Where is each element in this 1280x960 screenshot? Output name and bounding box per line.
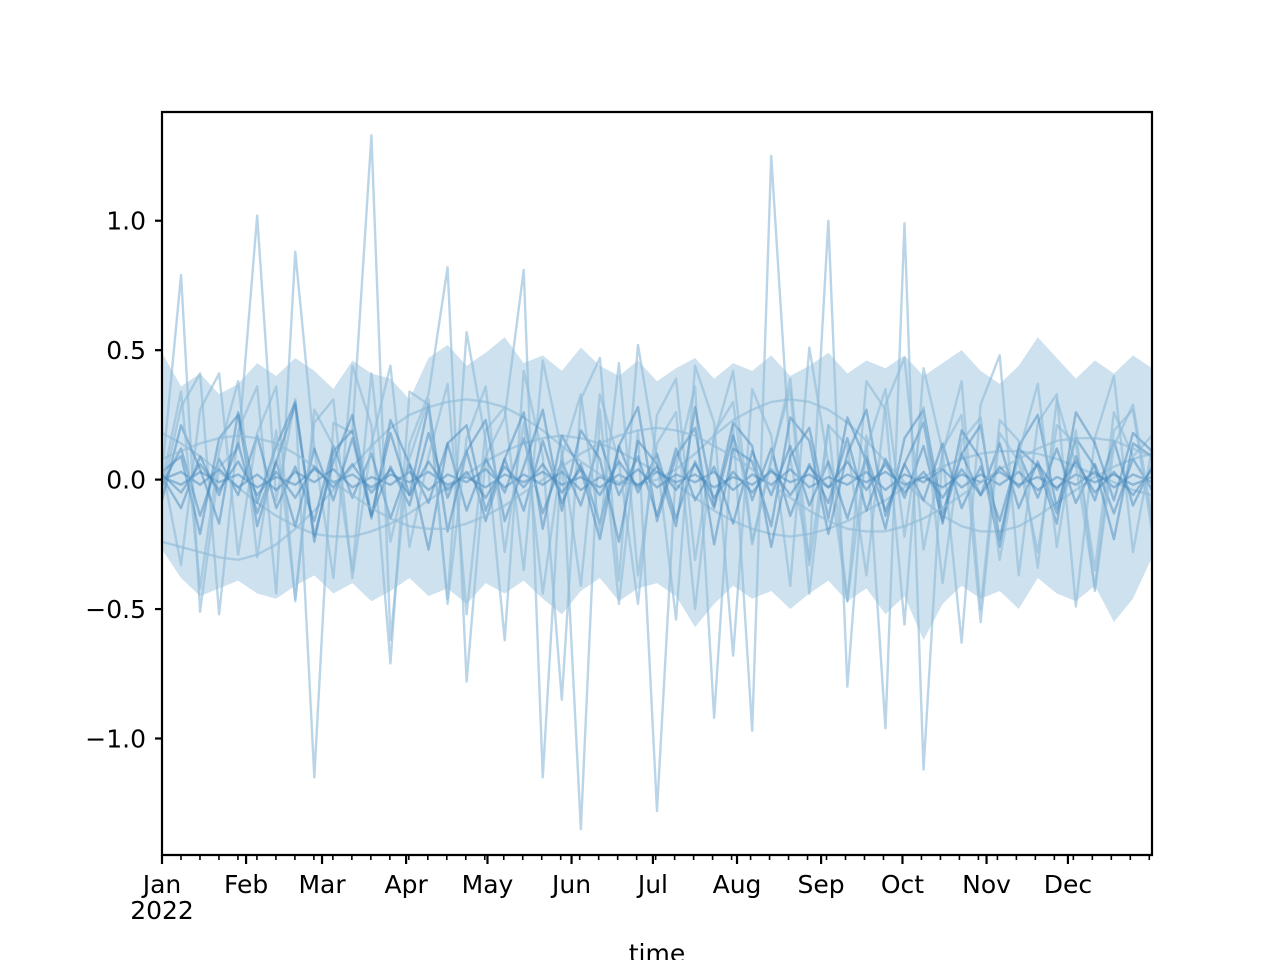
x-tick-label: Jan <box>141 870 182 899</box>
x-tick-label: Nov <box>962 870 1011 899</box>
plot-canvas: JanFebMarAprMayJunJulAugSepOctNovDec −1.… <box>0 0 1280 960</box>
x-tick-label: Feb <box>224 870 268 899</box>
x-tick-label: Sep <box>798 870 845 899</box>
y-tick-label: 0.0 <box>106 466 146 495</box>
matplotlib-figure: JanFebMarAprMayJunJulAugSepOctNovDec −1.… <box>0 0 1280 960</box>
x-tick-label: Apr <box>384 870 428 899</box>
x-tick-label: Aug <box>713 870 762 899</box>
y-tick-label: 0.5 <box>106 336 146 365</box>
x-tick-label: May <box>462 870 514 899</box>
y-tick-label: −0.5 <box>85 595 146 624</box>
x-tick-label: Dec <box>1044 870 1092 899</box>
x-tick-label: Jul <box>636 870 668 899</box>
x-tick-label: Oct <box>881 870 924 899</box>
x-axis-label: time <box>629 939 685 960</box>
x-tick-label: Mar <box>298 870 346 899</box>
y-tick-label: 1.0 <box>106 207 146 236</box>
x-tick-label: Jun <box>550 870 591 899</box>
y-tick-label: −1.0 <box>85 725 146 754</box>
x-axis-year-label: 2022 <box>130 896 194 925</box>
